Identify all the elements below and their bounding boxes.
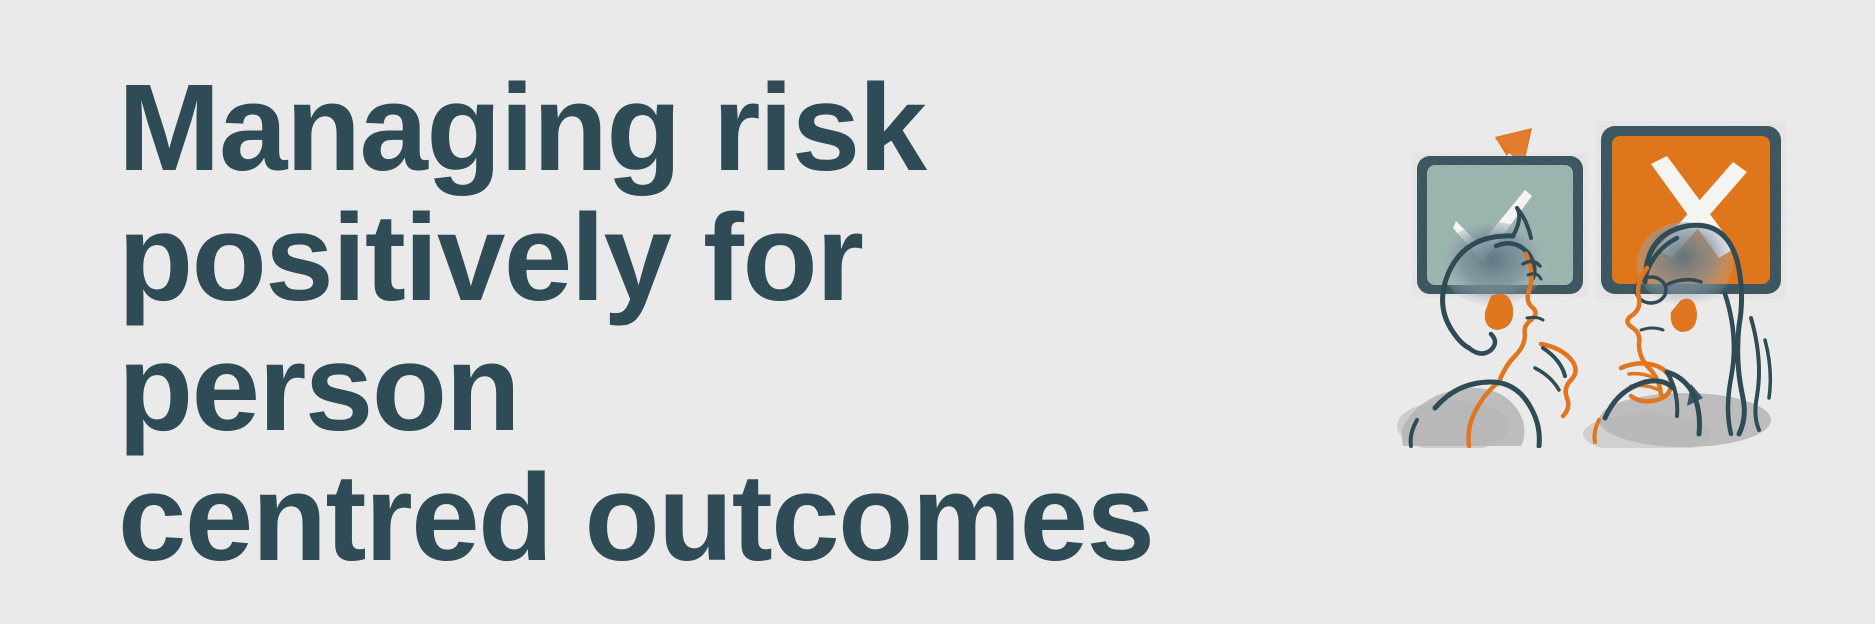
illustration — [1395, 68, 1795, 448]
banner: Managing risk positively for person cent… — [0, 0, 1875, 624]
illustration-svg — [1395, 68, 1795, 448]
page-title: Managing risk positively for person cent… — [118, 64, 1188, 584]
